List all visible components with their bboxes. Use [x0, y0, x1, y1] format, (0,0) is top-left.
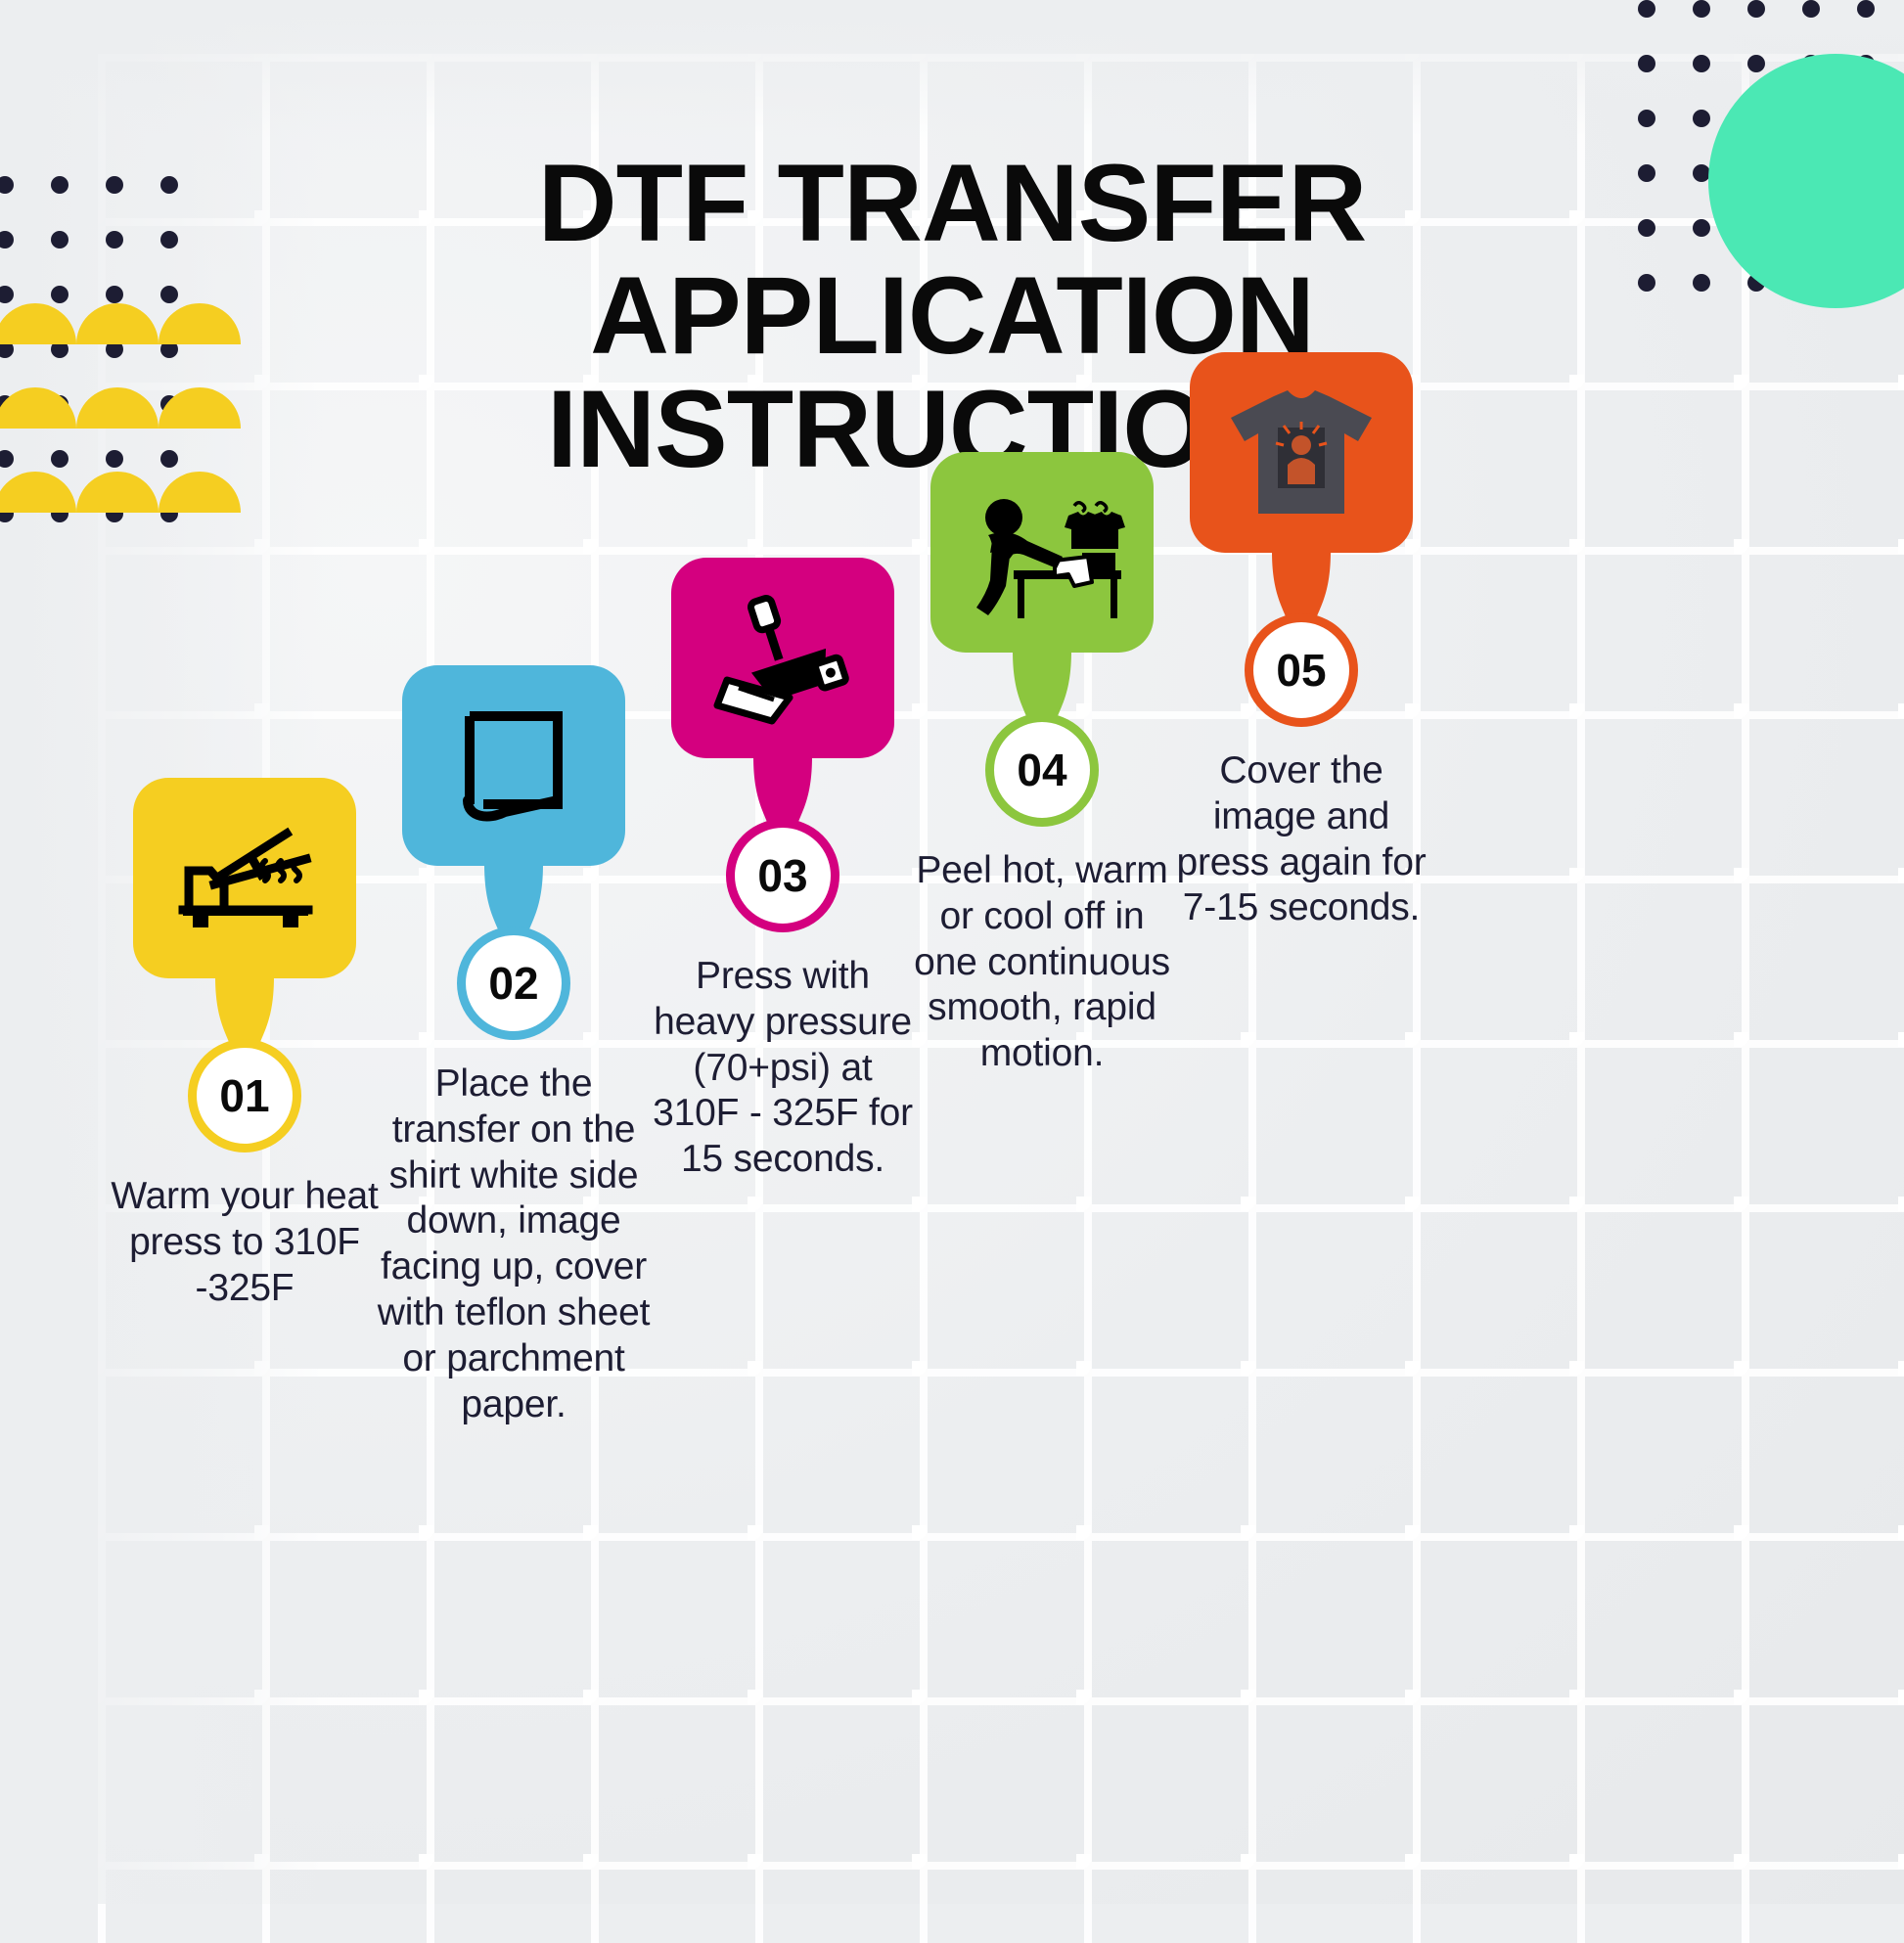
- step-item-3: 03 Press with heavy pressure (70+psi) at…: [636, 558, 929, 1183]
- step-5-number-wrap: 05: [1155, 613, 1448, 727]
- step-5-icon-card: [1190, 352, 1413, 553]
- step-1-icon-card: [133, 778, 356, 978]
- heat-press-icon: [171, 820, 318, 937]
- step-item-4: 04 Peel hot, warm or cool off in one con…: [895, 452, 1189, 1077]
- step-5-description: Cover the image and press again for 7-15…: [1155, 748, 1448, 931]
- transfer-sheet-icon: [450, 702, 577, 830]
- step-item-2: 02 Place the transfer on the shirt white…: [367, 665, 660, 1427]
- step-4-number-badge: 04: [985, 713, 1099, 827]
- step-item-1: 01 Warm your heat press to 310F -325F: [98, 778, 391, 1311]
- printed-tshirt-icon: [1223, 384, 1380, 521]
- step-2-icon-card: [402, 665, 625, 866]
- step-3-description: Press with heavy pressure (70+psi) at 31…: [636, 954, 929, 1183]
- steps-container: 01 Warm your heat press to 310F -325F 02…: [0, 0, 1904, 1904]
- step-3-number-wrap: 03: [636, 819, 929, 932]
- heat-press-pressing-icon: [709, 590, 856, 727]
- step-4-description: Peel hot, warm or cool off in one contin…: [895, 848, 1189, 1077]
- step-3-number-badge: 03: [726, 819, 839, 932]
- step-item-5: 05 Cover the image and press again for 7…: [1155, 352, 1448, 931]
- step-1-number-wrap: 01: [98, 1039, 391, 1152]
- step-1-description: Warm your heat press to 310F -325F: [98, 1174, 391, 1311]
- person-peeling-transfer-icon: [959, 484, 1125, 621]
- step-2-description: Place the transfer on the shirt white si…: [367, 1062, 660, 1427]
- step-2-number-badge: 02: [457, 926, 570, 1040]
- step-4-icon-card: [930, 452, 1154, 653]
- step-5-number-badge: 05: [1245, 613, 1358, 727]
- step-2-number-wrap: 02: [367, 926, 660, 1040]
- step-1-number-badge: 01: [188, 1039, 301, 1152]
- step-3-icon-card: [671, 558, 894, 758]
- step-4-number-wrap: 04: [895, 713, 1189, 827]
